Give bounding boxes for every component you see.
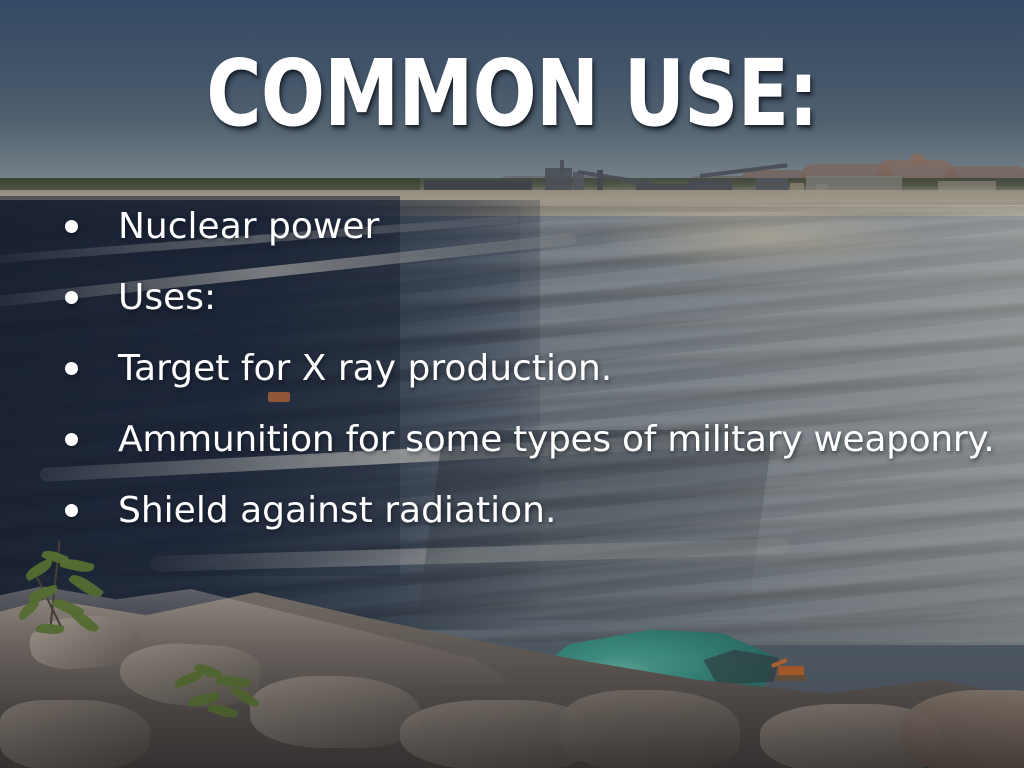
bullet-item: Ammunition for some types of military we… [58,419,1018,490]
bullet-text: Nuclear power [118,206,379,248]
bullet-marker-icon [65,504,78,517]
bullet-item: Uses: [58,277,1018,348]
bullet-text: Target for X ray production. [118,348,612,390]
bullet-list: Nuclear power Uses: Target for X ray pro… [58,206,1018,561]
bullet-marker-icon [65,220,78,233]
slide-content: COMMON USE: Nuclear power Uses: Target f… [0,0,1024,768]
presentation-slide: COMMON USE: Nuclear power Uses: Target f… [0,0,1024,768]
slide-title: COMMON USE: [92,48,932,140]
bullet-text: Ammunition for some types of military we… [118,419,994,461]
bullet-text: Uses: [118,277,216,319]
bullet-marker-icon [65,291,78,304]
bullet-marker-icon [65,433,78,446]
bullet-item: Shield against radiation. [58,490,1018,561]
bullet-item: Nuclear power [58,206,1018,277]
bullet-text: Shield against radiation. [118,490,556,532]
bullet-item: Target for X ray production. [58,348,1018,419]
bullet-marker-icon [65,362,78,375]
